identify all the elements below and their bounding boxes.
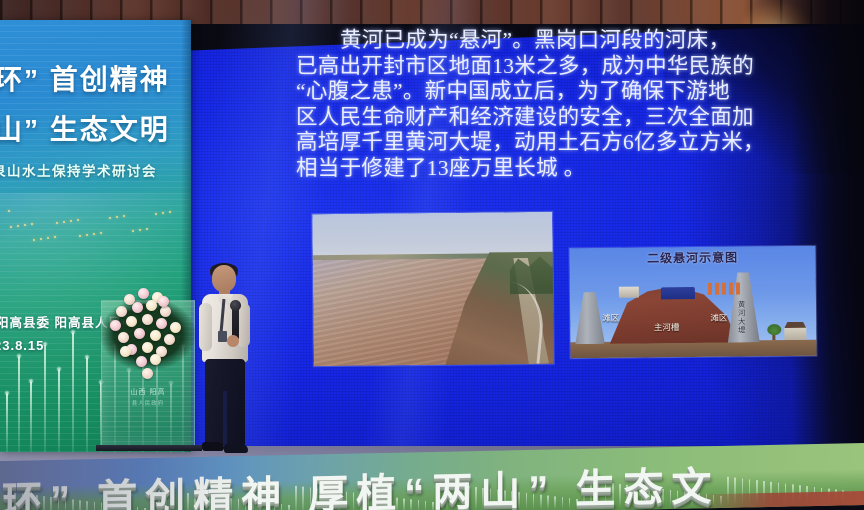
side-banner-date: 23.8.15 xyxy=(0,338,44,353)
flower-blossom xyxy=(134,328,145,339)
side-banner-line1: 环” 首创精神 xyxy=(0,58,170,98)
bottom-banner-red-strip xyxy=(694,491,864,510)
flower-blossom xyxy=(146,300,157,311)
sparkle-dot xyxy=(17,225,19,227)
sparkle-dot xyxy=(162,212,164,214)
podium-base xyxy=(96,445,202,451)
sparkle-dot xyxy=(47,237,49,239)
flower-blossom xyxy=(138,288,149,299)
slide-body-line: 黄河已成为“悬河”。黑岗口河段的河床， xyxy=(296,28,816,54)
diagram-title: 二级悬河示意图 xyxy=(569,248,815,268)
diagram-label-floodplain-right: 滩区 xyxy=(710,312,727,324)
flower-blossom xyxy=(142,342,153,353)
grass-blade xyxy=(86,358,88,452)
speaker-badge xyxy=(218,331,227,342)
sparkle-dot xyxy=(146,228,148,230)
sparkle-dot xyxy=(54,236,56,238)
sparkle-dot xyxy=(155,213,157,215)
speaker-shoe-right xyxy=(224,444,248,453)
flower-blossom xyxy=(118,332,129,343)
sparkle-dot xyxy=(63,221,65,223)
flower-blossom xyxy=(142,368,153,379)
flower-blossom xyxy=(136,356,147,367)
podium-emblem-line2: 县人民政府 xyxy=(102,399,194,407)
speaker-person xyxy=(196,265,256,455)
bottom-banner-text: 环” 首创精神 厚植“两山” 生态文 xyxy=(2,454,719,510)
sparkle-dot xyxy=(86,234,88,236)
diagram-label-main-channel: 主河槽 xyxy=(654,321,680,333)
slide-diagram-suspended-river: 二级悬河示意图 滩区 主河槽 滩区 黄河大堤 xyxy=(569,246,816,359)
flower-blossom xyxy=(158,296,169,307)
flower-blossom xyxy=(160,306,171,317)
sparkle-dot xyxy=(33,239,35,241)
diagram-house xyxy=(784,327,806,340)
flower-blossom xyxy=(132,302,143,313)
speaker-shoe-left xyxy=(202,442,224,451)
diagram-label-levee: 黄河大堤 xyxy=(736,300,747,334)
sparkle-dot xyxy=(77,219,79,221)
flower-blossom xyxy=(126,316,137,327)
sparkle-dot xyxy=(8,210,10,212)
speaker-hand xyxy=(227,335,239,347)
diagram-label-floodplain-left: 滩区 xyxy=(602,312,619,324)
side-banner-subtitle: 泉山水土保持学术研讨会 xyxy=(0,160,157,180)
grass-blade xyxy=(30,382,32,452)
grass-blade xyxy=(58,370,60,452)
slide-body-line: “心腹之患”。新中国成立后，为了确保下游地 xyxy=(296,79,816,105)
speaker-leg-gap xyxy=(223,391,227,445)
diagram-dike-left xyxy=(575,292,605,344)
sparkle-dot xyxy=(56,222,58,224)
sparkle-dot xyxy=(169,211,171,213)
slide-photo-yellow-river xyxy=(312,212,554,367)
sparkle-dot xyxy=(10,226,12,228)
diagram-marker-flags xyxy=(708,282,743,294)
flower-blossom xyxy=(150,330,161,341)
stage-scene: 黄河已成为“悬河”。黑岗口河段的河床，已高出开封市区地面13米之多，成为中华民族… xyxy=(0,0,864,510)
grass-blade xyxy=(44,345,46,452)
side-banner-sparkles xyxy=(8,210,178,246)
sparkle-dot xyxy=(109,217,111,219)
sparkle-dot xyxy=(31,223,33,225)
sparkle-dot xyxy=(123,215,125,217)
flower-arrangement xyxy=(96,276,200,388)
flower-blossom xyxy=(164,334,175,345)
sparkle-dot xyxy=(116,216,118,218)
diagram-main-channel xyxy=(661,287,696,299)
flower-blossom xyxy=(116,306,127,317)
flower-blossom xyxy=(142,314,153,325)
slide-body-text: 黄河已成为“悬河”。黑岗口河段的河床，已高出开封市区地面13米之多，成为中华民族… xyxy=(296,28,816,181)
flower-blossom xyxy=(170,322,181,333)
sparkle-dot xyxy=(79,235,81,237)
side-banner-line2: 山” 生态文明 xyxy=(0,108,170,148)
sparkle-dot xyxy=(40,238,42,240)
sparkle-dot xyxy=(139,229,141,231)
sparkle-dot xyxy=(100,232,102,234)
speaker-arm-left xyxy=(199,303,212,351)
sparkle-dot xyxy=(132,230,134,232)
grass-blade xyxy=(6,394,8,452)
slide-body-line: 高培厚千里黄河大堤，动用土石方6亿多立方米， xyxy=(296,130,816,156)
diagram-tree xyxy=(767,324,781,340)
diagram-marker-left xyxy=(619,287,639,298)
flower-blossom xyxy=(156,318,167,329)
sparkle-dot xyxy=(93,233,95,235)
flower-blossom xyxy=(120,346,131,357)
grass-blade xyxy=(18,357,20,452)
sparkle-dot xyxy=(70,220,72,222)
slide-body-line: 区人民生命财产和经济建设的安全，三次全面加 xyxy=(296,105,816,131)
slide-body-line: 相当于修建了13座万里长城 。 xyxy=(296,156,816,182)
flower-blossom xyxy=(150,354,161,365)
flower-blossom xyxy=(110,320,121,331)
slide-body-line: 已高出开封市区地面13米之多，成为中华民族的 xyxy=(296,54,816,80)
grass-blade xyxy=(72,333,74,452)
speaker-head xyxy=(212,265,236,292)
sparkle-dot xyxy=(24,224,26,226)
podium-emblem-line1: 山西 阳高 xyxy=(102,387,194,397)
